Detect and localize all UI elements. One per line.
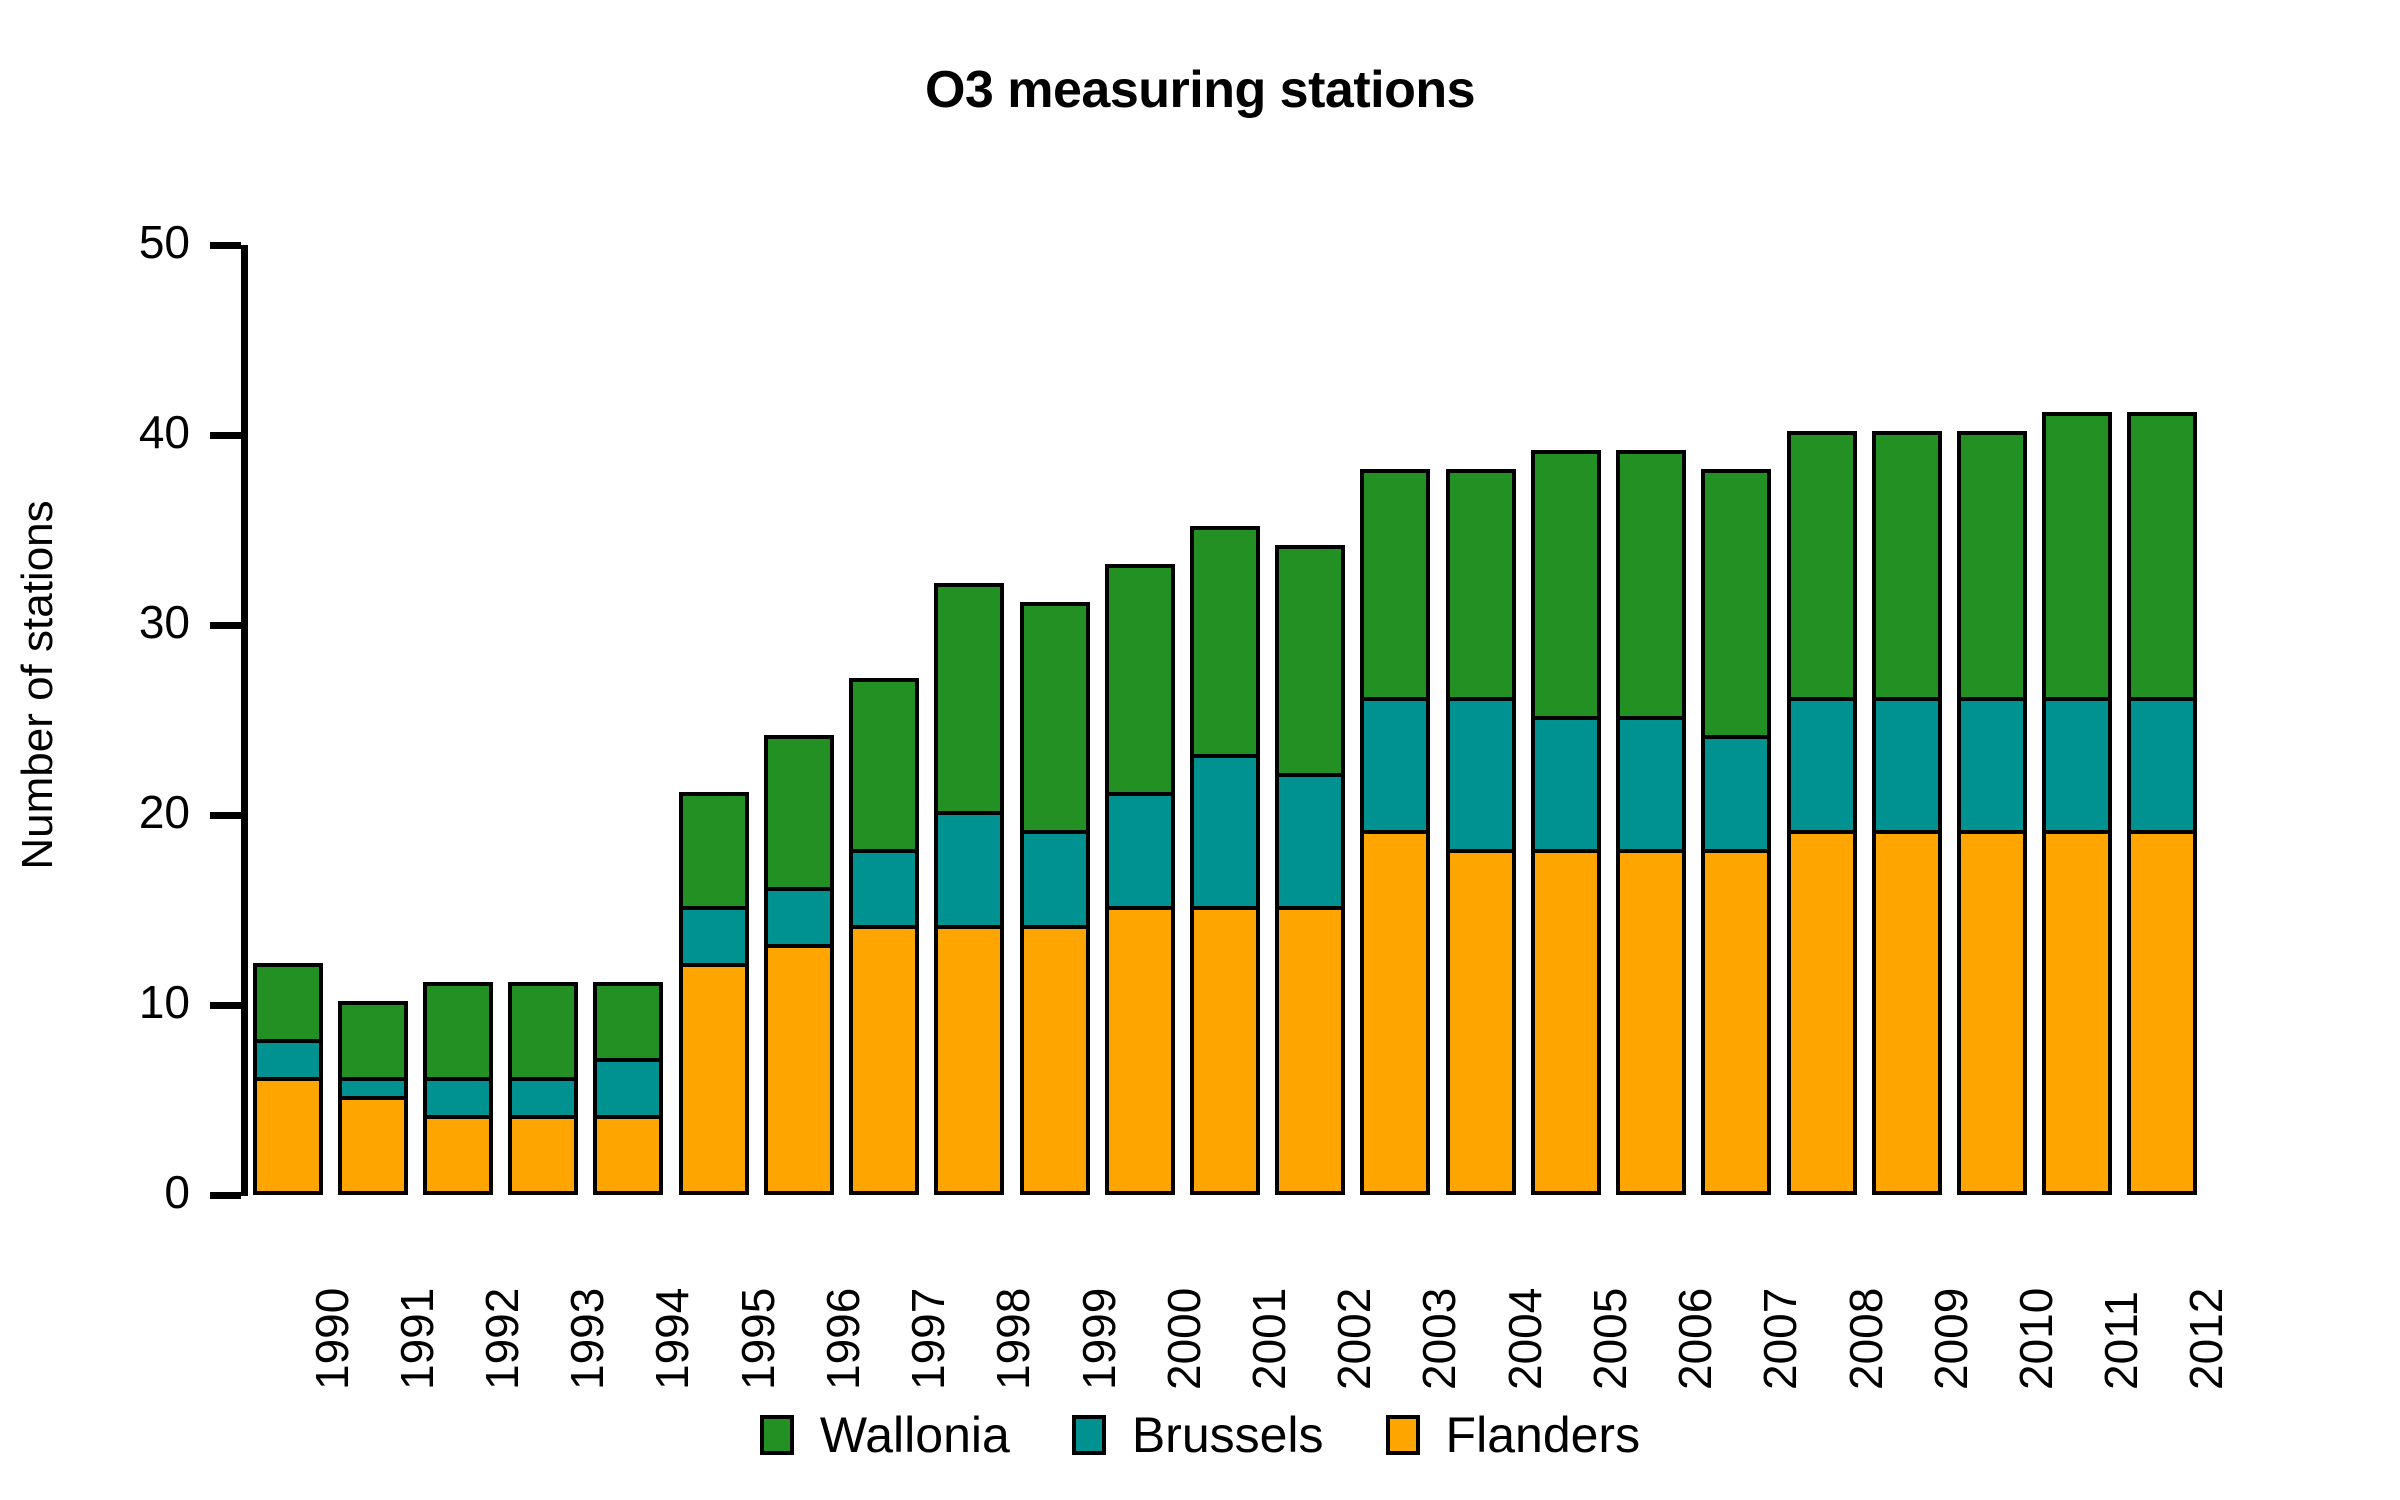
bar-segment-flanders-1998[interactable] <box>934 925 1004 1195</box>
x-axis-tick-label: 1996 <box>816 1288 870 1390</box>
bar-2009[interactable] <box>1872 435 1942 1195</box>
bar-segment-brussels-2008[interactable] <box>1787 697 1857 834</box>
bar-segment-brussels-1990[interactable] <box>253 1039 323 1081</box>
y-axis-tick <box>210 1192 241 1199</box>
bar-segment-flanders-2004[interactable] <box>1446 849 1516 1195</box>
bar-2010[interactable] <box>1957 435 2027 1195</box>
bar-segment-flanders-2002[interactable] <box>1275 906 1345 1195</box>
x-axis-tick-label: 2001 <box>1242 1288 1296 1390</box>
bar-segment-wallonia-2011[interactable] <box>2042 412 2112 701</box>
bar-segment-brussels-2006[interactable] <box>1616 716 1686 853</box>
bar-2005[interactable] <box>1531 454 1601 1195</box>
bar-2004[interactable] <box>1446 473 1516 1195</box>
x-axis-tick-label: 1995 <box>731 1288 785 1390</box>
bar-segment-flanders-2005[interactable] <box>1531 849 1601 1195</box>
bar-segment-wallonia-1995[interactable] <box>679 792 749 910</box>
bar-segment-wallonia-2000[interactable] <box>1105 564 1175 796</box>
legend-item-brussels[interactable]: Brussels <box>1072 1410 1324 1460</box>
bar-segment-flanders-1994[interactable] <box>593 1115 663 1195</box>
y-axis-tick <box>210 242 241 249</box>
x-axis-tick-label: 2004 <box>1498 1288 1552 1390</box>
bar-1997[interactable] <box>849 682 919 1195</box>
bar-2007[interactable] <box>1701 473 1771 1195</box>
bar-segment-brussels-1998[interactable] <box>934 811 1004 929</box>
x-axis-tick-label: 1999 <box>1072 1288 1126 1390</box>
bar-segment-wallonia-1999[interactable] <box>1020 602 1090 834</box>
x-axis-tick-label: 1991 <box>390 1288 444 1390</box>
bar-segment-wallonia-2002[interactable] <box>1275 545 1345 777</box>
x-axis-tick-label: 2010 <box>2009 1288 2063 1390</box>
bar-segment-brussels-1996[interactable] <box>764 887 834 948</box>
y-axis-tick-label: 10 <box>40 975 190 1029</box>
bar-segment-flanders-2010[interactable] <box>1957 830 2027 1195</box>
bar-segment-brussels-2012[interactable] <box>2127 697 2197 834</box>
bar-segment-brussels-1997[interactable] <box>849 849 919 929</box>
legend-swatch-icon <box>1072 1415 1106 1455</box>
bar-segment-brussels-2002[interactable] <box>1275 773 1345 910</box>
chart-legend: WalloniaBrusselsFlanders <box>0 1410 2400 1460</box>
chart-title: O3 measuring stations <box>0 60 2400 120</box>
x-axis-tick-label: 2011 <box>2094 1291 2148 1390</box>
bar-segment-flanders-2003[interactable] <box>1360 830 1430 1195</box>
bar-1998[interactable] <box>934 587 1004 1195</box>
x-axis-tick-label: 1992 <box>475 1288 529 1390</box>
bar-segment-flanders-1992[interactable] <box>423 1115 493 1195</box>
bar-segment-brussels-2009[interactable] <box>1872 697 1942 834</box>
bar-segment-wallonia-2001[interactable] <box>1190 526 1260 758</box>
bar-segment-flanders-2007[interactable] <box>1701 849 1771 1195</box>
bar-2008[interactable] <box>1787 435 1857 1195</box>
bar-segment-flanders-1993[interactable] <box>508 1115 578 1195</box>
bar-segment-wallonia-2006[interactable] <box>1616 450 1686 720</box>
bar-segment-brussels-2000[interactable] <box>1105 792 1175 910</box>
x-axis-tick-label: 1998 <box>986 1288 1040 1390</box>
bar-segment-brussels-1993[interactable] <box>508 1077 578 1119</box>
legend-label: Flanders <box>1446 1410 1641 1460</box>
bar-segment-brussels-2005[interactable] <box>1531 716 1601 853</box>
bar-segment-wallonia-1991[interactable] <box>338 1001 408 1081</box>
bar-1996[interactable] <box>764 739 834 1195</box>
legend-swatch-icon <box>760 1415 794 1455</box>
y-axis-tick <box>210 432 241 439</box>
bar-2002[interactable] <box>1275 549 1345 1195</box>
x-axis-tick-label: 2003 <box>1412 1288 1466 1390</box>
y-axis-tick <box>210 622 241 629</box>
x-axis-tick-label: 2006 <box>1668 1288 1722 1390</box>
bar-segment-brussels-1995[interactable] <box>679 906 749 967</box>
legend-label: Wallonia <box>820 1410 1010 1460</box>
bar-2000[interactable] <box>1105 568 1175 1195</box>
x-axis-tick-label: 2002 <box>1327 1288 1381 1390</box>
bar-segment-wallonia-2004[interactable] <box>1446 469 1516 701</box>
bar-segment-wallonia-1997[interactable] <box>849 678 919 853</box>
y-axis-tick-label: 50 <box>40 215 190 269</box>
bar-segment-flanders-1991[interactable] <box>338 1096 408 1195</box>
bar-1999[interactable] <box>1020 606 1090 1195</box>
bar-segment-wallonia-2007[interactable] <box>1701 469 1771 739</box>
chart-canvas: O3 measuring stations Number of stations… <box>0 0 2400 1500</box>
bar-segment-wallonia-1993[interactable] <box>508 982 578 1081</box>
legend-item-wallonia[interactable]: Wallonia <box>760 1410 1010 1460</box>
x-axis-tick-label: 2008 <box>1839 1288 1893 1390</box>
bar-segment-wallonia-2003[interactable] <box>1360 469 1430 701</box>
x-axis-tick-label: 1990 <box>305 1288 359 1390</box>
bar-segment-wallonia-1990[interactable] <box>253 963 323 1043</box>
bar-segment-brussels-1999[interactable] <box>1020 830 1090 929</box>
bar-segment-brussels-2001[interactable] <box>1190 754 1260 910</box>
bar-segment-wallonia-2009[interactable] <box>1872 431 1942 701</box>
bar-2011[interactable] <box>2042 416 2112 1195</box>
y-axis-tick-label: 0 <box>40 1165 190 1219</box>
bar-segment-wallonia-2010[interactable] <box>1957 431 2027 701</box>
bar-segment-brussels-1992[interactable] <box>423 1077 493 1119</box>
bar-segment-brussels-2010[interactable] <box>1957 697 2027 834</box>
bar-segment-wallonia-2005[interactable] <box>1531 450 1601 720</box>
bar-segment-wallonia-1992[interactable] <box>423 982 493 1081</box>
x-axis-tick-label: 2007 <box>1753 1288 1807 1390</box>
x-axis-tick-label: 2000 <box>1157 1288 1211 1390</box>
bar-2006[interactable] <box>1616 454 1686 1195</box>
plot-area <box>245 245 2205 1195</box>
x-axis-tick-label: 1993 <box>560 1288 614 1390</box>
bar-2003[interactable] <box>1360 473 1430 1195</box>
bar-segment-brussels-2011[interactable] <box>2042 697 2112 834</box>
bar-2012[interactable] <box>2127 416 2197 1195</box>
bar-segment-brussels-2004[interactable] <box>1446 697 1516 853</box>
x-axis-tick-label: 1997 <box>901 1288 955 1390</box>
bar-segment-flanders-1996[interactable] <box>764 944 834 1195</box>
y-axis-tick <box>210 812 241 819</box>
y-axis-tick-label: 20 <box>40 785 190 839</box>
bar-segment-flanders-2006[interactable] <box>1616 849 1686 1195</box>
bar-segment-wallonia-1996[interactable] <box>764 735 834 891</box>
legend-item-flanders[interactable]: Flanders <box>1386 1410 1641 1460</box>
legend-swatch-icon <box>1386 1415 1420 1455</box>
bar-segment-flanders-2009[interactable] <box>1872 830 1942 1195</box>
bar-segment-wallonia-1994[interactable] <box>593 982 663 1062</box>
y-axis-tick-label: 30 <box>40 595 190 649</box>
y-axis-tick <box>210 1002 241 1009</box>
bar-segment-brussels-1994[interactable] <box>593 1058 663 1119</box>
bar-2001[interactable] <box>1190 530 1260 1195</box>
bar-segment-brussels-2007[interactable] <box>1701 735 1771 853</box>
bar-1992[interactable] <box>423 986 493 1195</box>
bar-segment-wallonia-1998[interactable] <box>934 583 1004 815</box>
bar-segment-flanders-1990[interactable] <box>253 1077 323 1195</box>
bar-segment-flanders-2011[interactable] <box>2042 830 2112 1195</box>
bar-segment-flanders-2008[interactable] <box>1787 830 1857 1195</box>
bar-1994[interactable] <box>593 986 663 1195</box>
bar-segment-flanders-1997[interactable] <box>849 925 919 1195</box>
bar-segment-flanders-1999[interactable] <box>1020 925 1090 1195</box>
bar-1991[interactable] <box>338 1005 408 1195</box>
x-axis-tick-label: 2009 <box>1924 1288 1978 1390</box>
bar-segment-flanders-2012[interactable] <box>2127 830 2197 1195</box>
bar-1990[interactable] <box>253 967 323 1195</box>
y-axis-title: Number of stations <box>13 425 63 945</box>
bar-segment-flanders-2001[interactable] <box>1190 906 1260 1195</box>
bar-1995[interactable] <box>679 796 749 1195</box>
bar-segment-brussels-2003[interactable] <box>1360 697 1430 834</box>
x-axis-tick-label: 2005 <box>1583 1288 1637 1390</box>
bar-1993[interactable] <box>508 986 578 1195</box>
bar-segment-flanders-2000[interactable] <box>1105 906 1175 1195</box>
bar-segment-wallonia-2012[interactable] <box>2127 412 2197 701</box>
bar-segment-flanders-1995[interactable] <box>679 963 749 1195</box>
bar-segment-wallonia-2008[interactable] <box>1787 431 1857 701</box>
x-axis-tick-label: 1994 <box>645 1288 699 1390</box>
y-axis-tick-label: 40 <box>40 405 190 459</box>
legend-label: Brussels <box>1132 1410 1324 1460</box>
x-axis-tick-label: 2012 <box>2179 1288 2233 1390</box>
